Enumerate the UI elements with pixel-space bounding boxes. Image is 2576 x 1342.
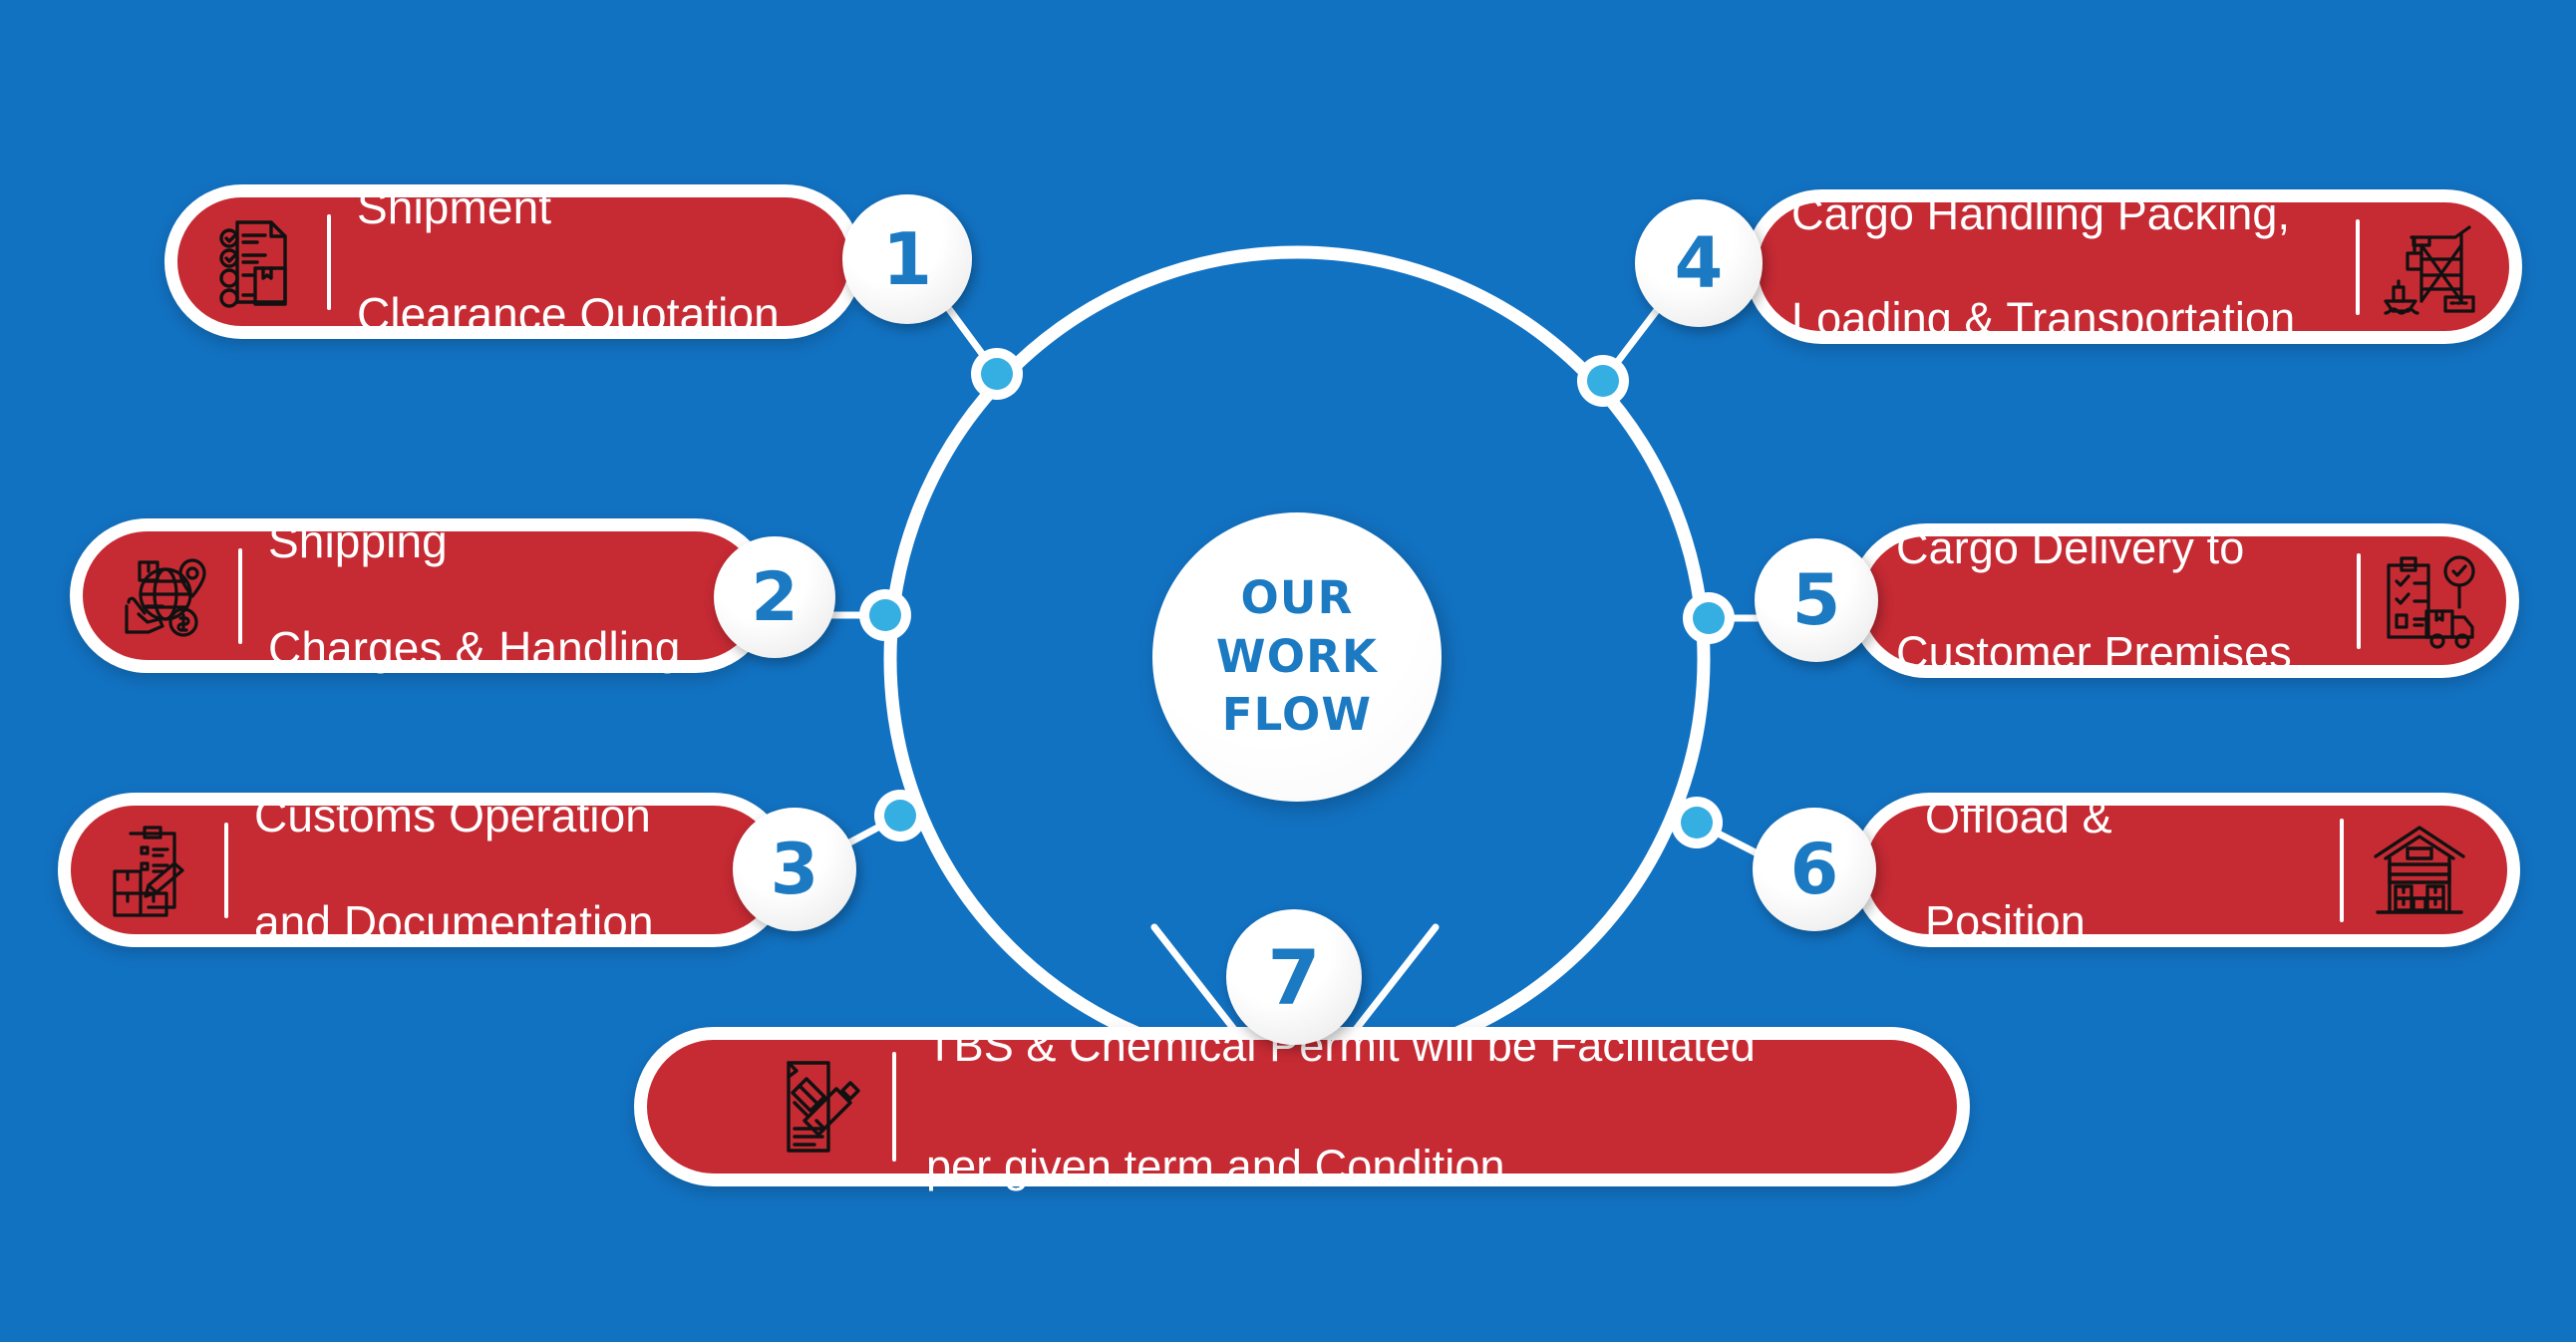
workflow-infographic: OUR WORK FLOW Shipment Clearance Quot (0, 0, 2576, 1342)
document-pen-gavel-icon (777, 1057, 862, 1157)
step-pill-5[interactable]: Cargo Delivery to Customer Premises (1849, 523, 2519, 678)
step-label-2: Shipping Charges & Handling (268, 463, 726, 729)
clipboard-boxes-pen-icon (109, 824, 198, 917)
hub-line-2: WORK (1216, 628, 1378, 687)
globe-parcel-dollar-icon (121, 550, 212, 642)
step-label-6: Offload & Position (1925, 740, 2312, 1000)
pill-divider (2357, 553, 2361, 649)
step-number-3[interactable]: 3 (733, 808, 856, 931)
step-number-1[interactable]: 1 (842, 194, 972, 324)
step-pill-3[interactable]: Customs Operation and Documentation (58, 793, 791, 947)
checklist-parcel-icon (215, 216, 301, 308)
step-number-6-label: 6 (1790, 829, 1839, 910)
step-number-7[interactable]: 7 (1226, 909, 1362, 1045)
pill-divider (224, 823, 228, 918)
step-number-2-label: 2 (751, 558, 798, 637)
center-hub: OUR WORK FLOW (1152, 512, 1442, 802)
step-number-4[interactable]: 4 (1635, 199, 1763, 327)
hub-line-3: FLOW (1222, 686, 1373, 745)
step-number-1-label: 1 (882, 217, 932, 301)
step-pill-2[interactable]: Shipping Charges & Handling (70, 518, 773, 673)
step-pill-7[interactable]: TBS & Chemical Permit will be Facilitate… (634, 1027, 1970, 1186)
port-crane-ship-icon (2384, 219, 2475, 315)
pill-divider (892, 1052, 896, 1162)
step-number-5-label: 5 (1792, 559, 1841, 641)
step-label-1: Shipment Clearance Quotation (357, 129, 815, 395)
step-label-5: Cargo Delivery to Customer Premises (1896, 471, 2335, 731)
pill-divider (2340, 819, 2344, 922)
step-pill-4[interactable]: Cargo Handling Packing, Loading & Transp… (1745, 189, 2522, 344)
step-pill-1[interactable]: Shipment Clearance Quotation (164, 184, 862, 339)
step-number-7-label: 7 (1268, 933, 1321, 1022)
step-number-2[interactable]: 2 (714, 536, 835, 658)
hub-line-1: OUR (1240, 569, 1353, 628)
step-label-4: Cargo Handling Packing, Loading & Transp… (1791, 137, 2332, 397)
pill-divider (2356, 219, 2360, 315)
step-label-3: Customs Operation and Documentation (254, 737, 744, 1003)
warehouse-boxes-icon (2372, 825, 2467, 916)
step-number-5[interactable]: 5 (1755, 538, 1878, 662)
pill-divider (327, 214, 331, 310)
step-number-4-label: 4 (1675, 222, 1724, 304)
step-number-3-label: 3 (771, 829, 819, 910)
clipboard-truck-icon (2383, 553, 2476, 649)
step-pill-6[interactable]: Offload & Position (1852, 793, 2520, 947)
step-number-6[interactable]: 6 (1753, 808, 1876, 931)
step-label-7: TBS & Chemical Permit will be Facilitate… (926, 955, 1917, 1258)
pill-divider (238, 548, 242, 644)
